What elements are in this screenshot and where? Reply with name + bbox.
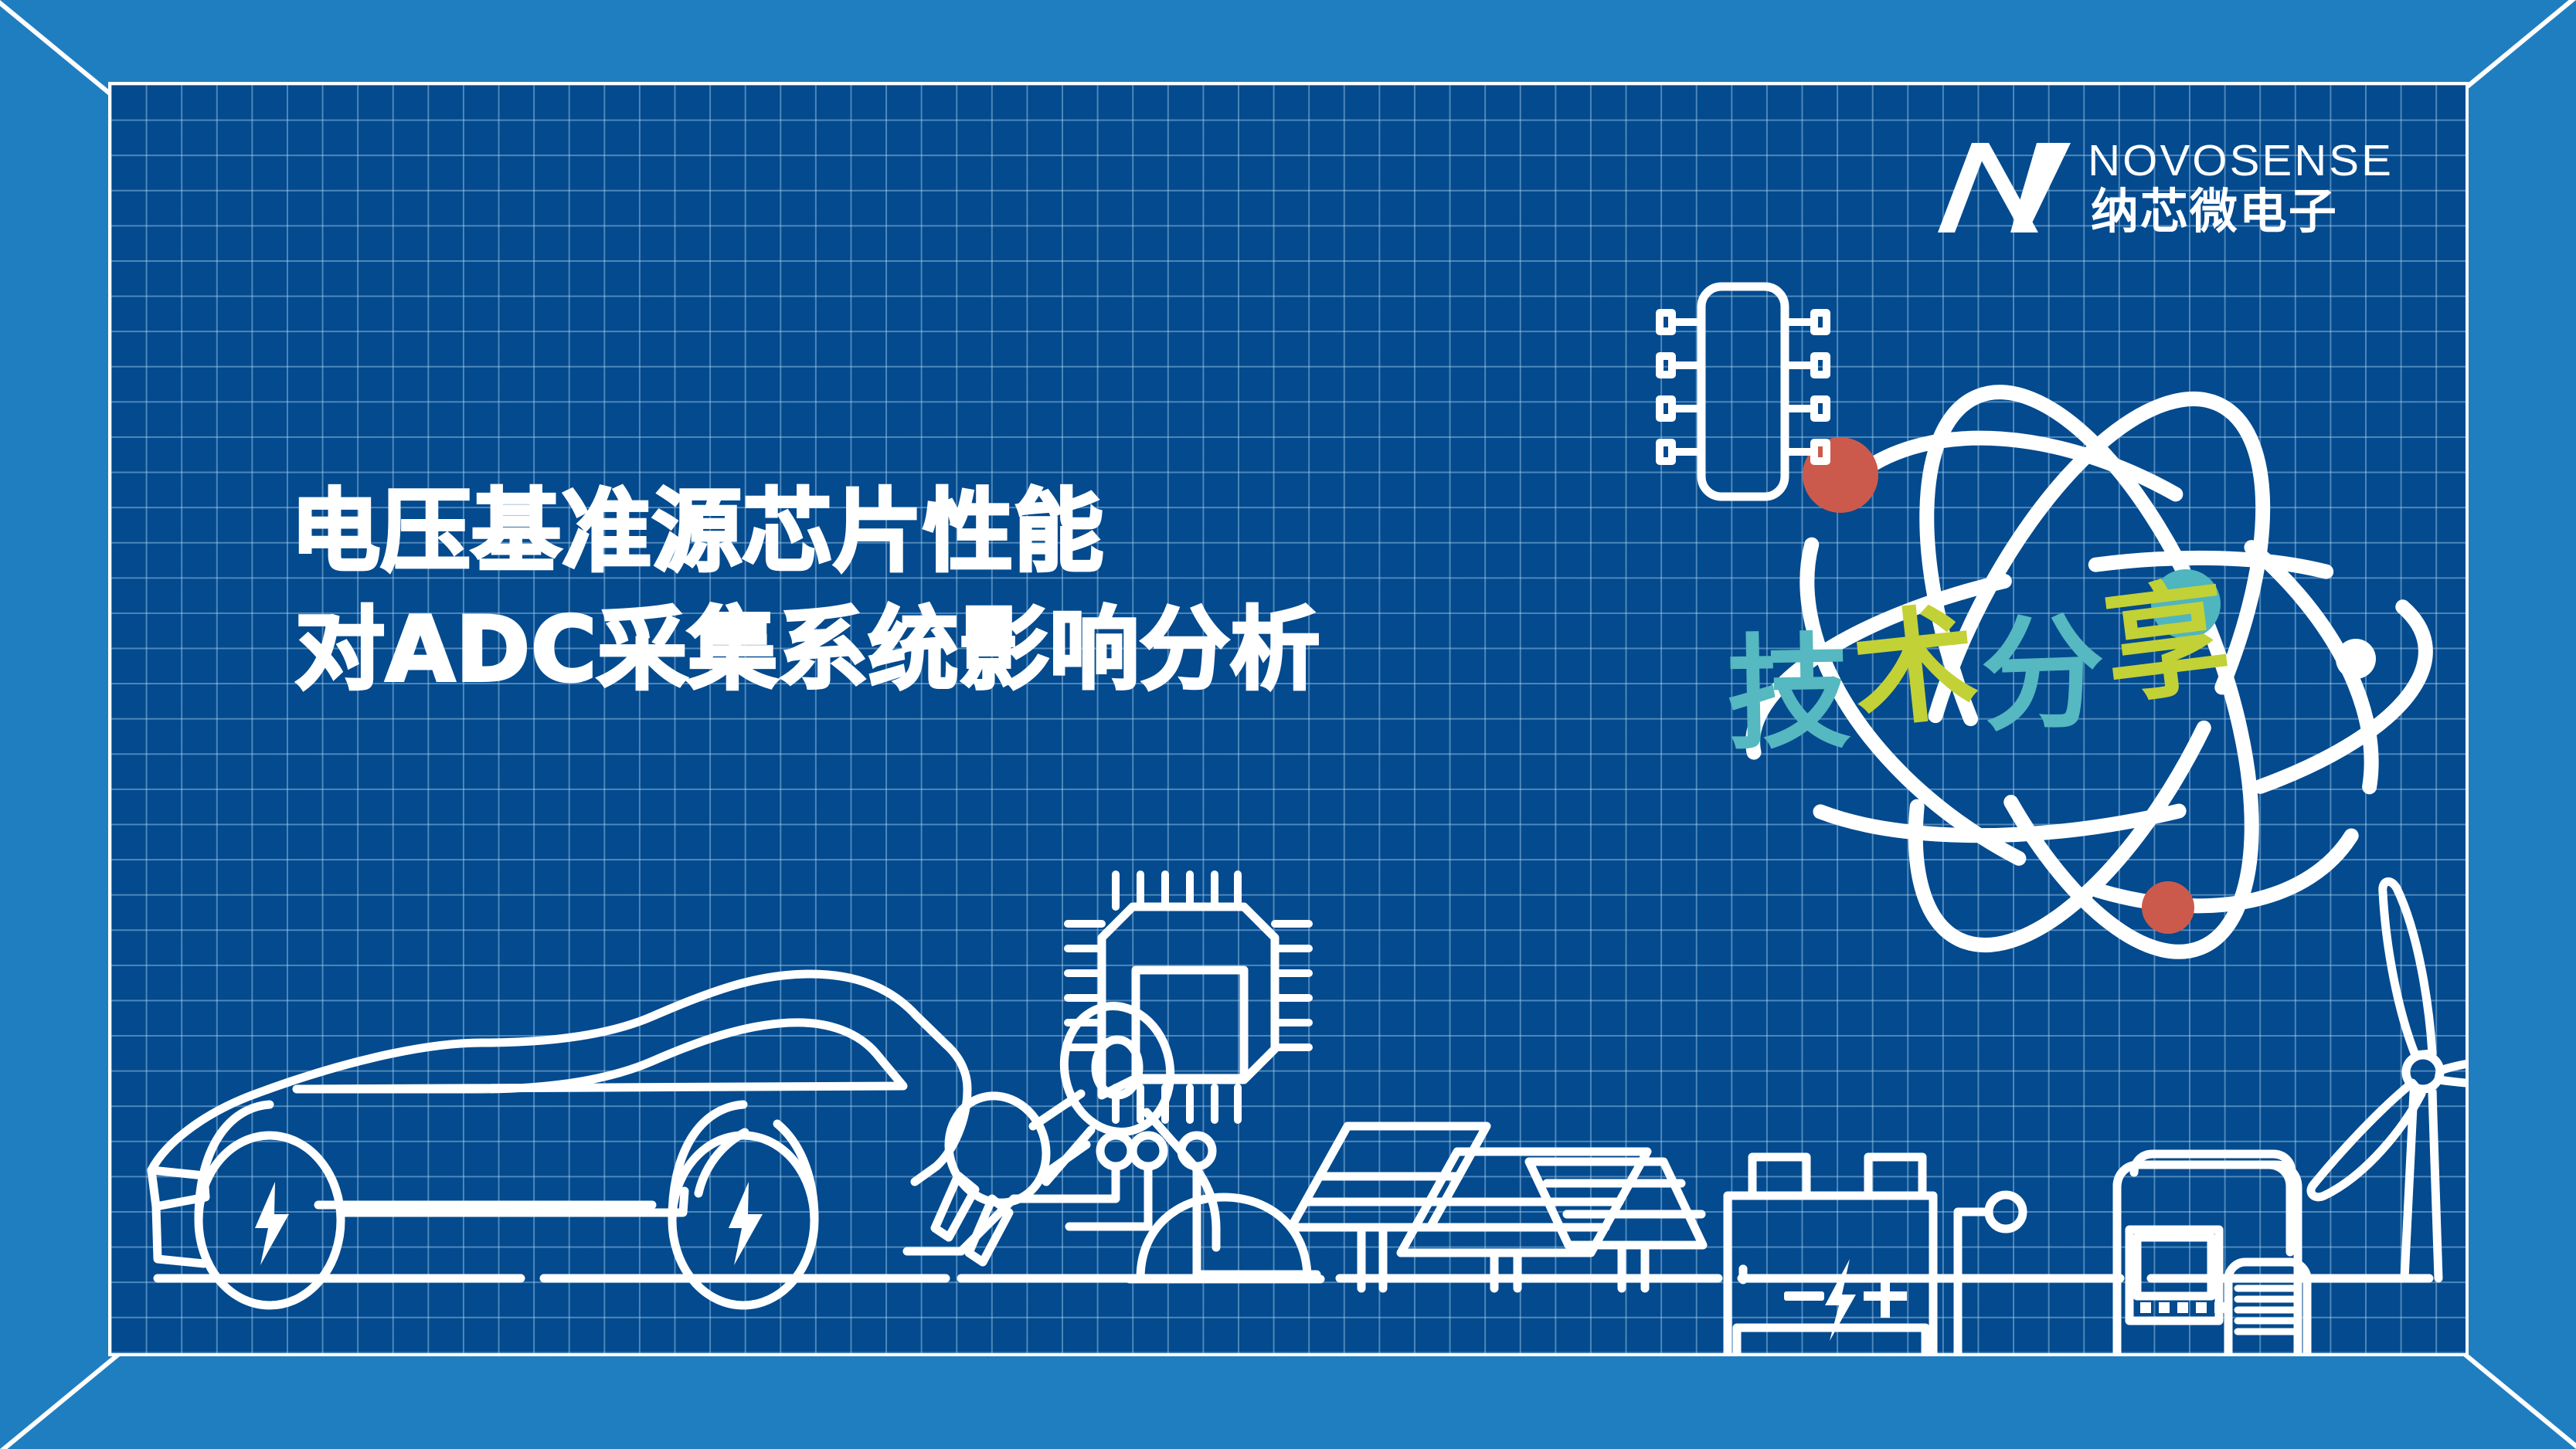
electric-car-icon — [151, 974, 967, 1305]
battery-pack-icon — [1708, 1157, 1955, 1356]
battery-minus-icon — [1784, 1291, 1824, 1301]
solar-panel-array-icon — [1291, 1126, 1703, 1288]
dip-ic-package-icon — [1660, 287, 1827, 1278]
turbine-blade-3 — [2311, 1083, 2421, 1197]
chip-pad-2 — [1133, 1135, 1164, 1166]
turbine-blade-1 — [2383, 881, 2432, 1055]
banner-canvas: NOVOSENSE 纳芯微电子 电压基准源芯片性能 对ADC采集系统影响分析 — [0, 0, 2576, 1449]
turbine-tower — [2404, 1092, 2438, 1278]
wind-turbine-icon — [2311, 881, 2469, 1278]
industrial-illustration — [111, 85, 2469, 1356]
turbine-blade-2 — [2438, 1060, 2469, 1085]
industrial-control-cabinet-icon — [2105, 1154, 2319, 1356]
solar-panel-3 — [1529, 1162, 1703, 1288]
blueprint-panel: NOVOSENSE 纳芯微电子 电压基准源芯片性能 对ADC采集系统影响分析 — [108, 82, 2469, 1356]
chip-pad-1 — [1100, 1135, 1131, 1166]
